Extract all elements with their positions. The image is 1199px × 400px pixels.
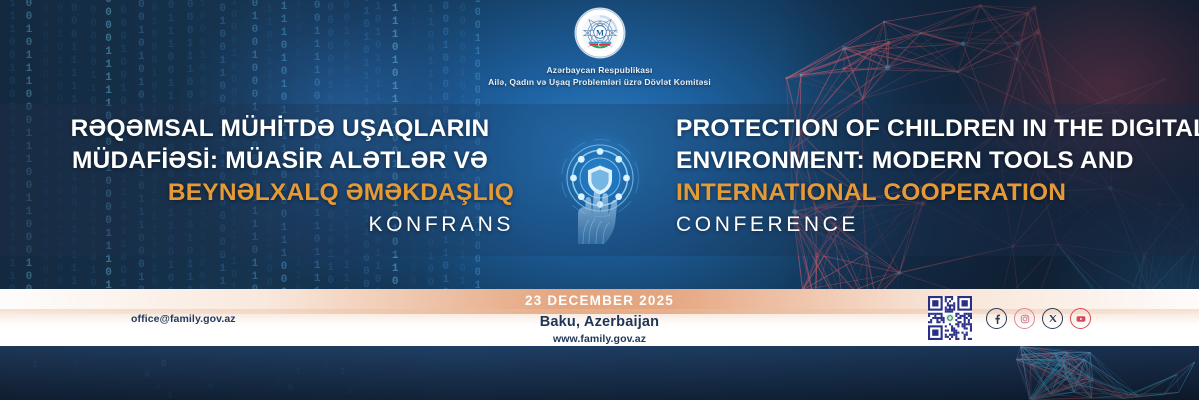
social-links <box>986 308 1091 329</box>
title-en-subtitle: CONFERENCE <box>676 209 1176 240</box>
x-twitter-icon[interactable] <box>1042 308 1063 329</box>
title-en-line-1: PROTECTION OF CHILDREN IN THE DIGITAL <box>676 113 1176 145</box>
conference-banner: 0111111110010000110000101011010011110010… <box>0 0 1199 400</box>
bottom-shade <box>0 346 1199 400</box>
emblem-caption-line-1: Azərbaycan Respublikası <box>0 65 1199 77</box>
facebook-icon[interactable] <box>986 308 1007 329</box>
emblem-caption-line-2: Ailə, Qadın və Uşaq Problemləri üzrə Döv… <box>0 77 1199 89</box>
svg-text:M: M <box>595 27 603 37</box>
organization-emblem-block: M Azərbaycan Respublikası Ailə, Qadın və… <box>0 7 1199 88</box>
title-azerbaijani: RƏQƏMSAL MÜHİTDƏ UŞAQLARIN MÜDAFİƏSİ: MÜ… <box>40 113 520 240</box>
title-az-line-2: MÜDAFİƏSİ: MÜASİR ALƏTLƏR VƏ <box>40 145 520 177</box>
title-en-line-2: ENVIRONMENT: MODERN TOOLS AND <box>676 145 1176 177</box>
emblem-caption: Azərbaycan Respublikası Ailə, Qadın və U… <box>0 65 1199 88</box>
title-az-line-1: RƏQƏMSAL MÜHİTDƏ UŞAQLARIN <box>40 113 520 145</box>
shield-hand-protection-icon <box>542 128 658 244</box>
title-az-subtitle: KONFRANS <box>40 209 520 240</box>
youtube-icon[interactable] <box>1070 308 1091 329</box>
qr-code-icon[interactable] <box>928 296 972 340</box>
title-az-line-3: BEYNƏLXALQ ƏMƏKDAŞLIQ <box>40 177 520 209</box>
azerbaijan-state-emblem-icon: M <box>574 7 626 59</box>
title-en-line-3: INTERNATIONAL COOPERATION <box>676 177 1176 209</box>
website-url[interactable]: www.family.gov.az <box>0 332 1199 347</box>
bottom-background-strip: 1011011010110010 <box>0 346 1199 400</box>
title-english: PROTECTION OF CHILDREN IN THE DIGITAL EN… <box>676 113 1176 240</box>
instagram-icon[interactable] <box>1014 308 1035 329</box>
